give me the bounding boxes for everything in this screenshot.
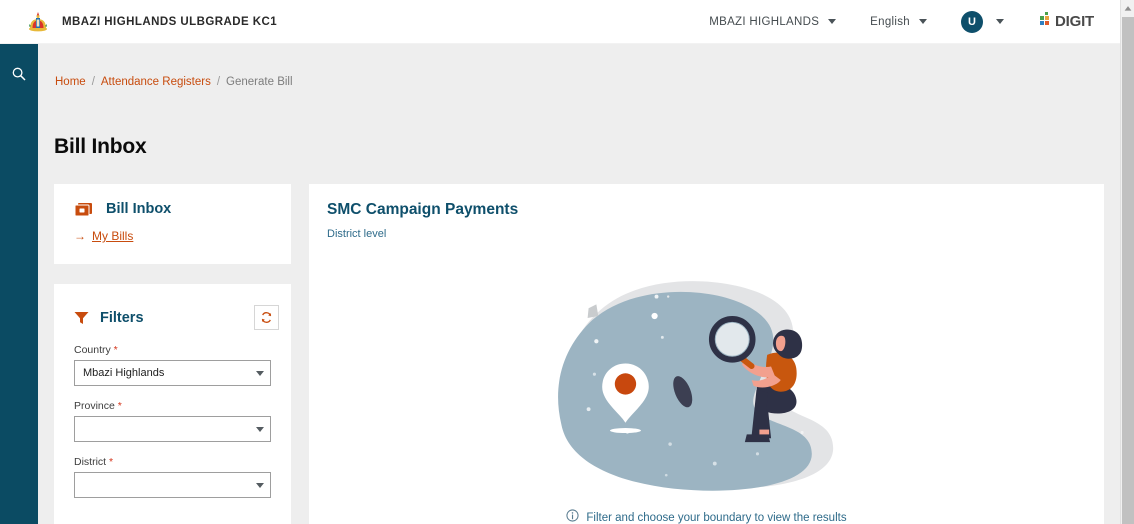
brand-title: MBAZI HIGHLANDS ULBGRADE KC1 bbox=[62, 16, 277, 28]
avatar: U bbox=[961, 11, 983, 33]
filters-card: Filters Country * Mbazi Highlands bbox=[54, 284, 291, 524]
filters-title: Filters bbox=[100, 310, 144, 326]
chevron-down-icon bbox=[256, 483, 264, 488]
required-asterisk: * bbox=[115, 400, 122, 412]
filter-funnel-icon bbox=[74, 311, 89, 325]
breadcrumb-item-attendance-registers[interactable]: Attendance Registers bbox=[101, 76, 211, 88]
app-root: MBAZI HIGHLANDS ULBGRADE KC1 MBAZI HIGHL… bbox=[0, 0, 1134, 524]
breadcrumb: Home / Attendance Registers / Generate B… bbox=[55, 76, 293, 88]
empty-state-hint: Filter and choose your boundary to view … bbox=[309, 509, 1104, 524]
bill-inbox-header: Bill Inbox bbox=[54, 184, 291, 217]
payments-cards-icon bbox=[74, 201, 94, 217]
required-asterisk: * bbox=[111, 344, 118, 356]
filter-label-province-text: Province bbox=[74, 400, 115, 412]
country-select[interactable]: Mbazi Highlands bbox=[74, 360, 271, 386]
scroll-up-arrow-icon[interactable] bbox=[1121, 0, 1134, 16]
arrow-right-icon: → bbox=[74, 230, 86, 242]
filters-header: Filters bbox=[54, 284, 291, 330]
language-selector-label: English bbox=[870, 16, 910, 28]
digit-logo-text: DIGIT bbox=[1055, 13, 1094, 30]
country-select-value: Mbazi Highlands bbox=[83, 367, 164, 379]
search-icon[interactable] bbox=[11, 66, 27, 82]
page-title: Bill Inbox bbox=[54, 135, 147, 159]
language-selector[interactable]: English bbox=[870, 16, 927, 28]
tenant-selector-label: MBAZI HIGHLANDS bbox=[709, 16, 819, 28]
top-header-actions: MBAZI HIGHLANDS English U DIGIT bbox=[675, 11, 1120, 33]
page-body: Home / Attendance Registers / Generate B… bbox=[38, 44, 1120, 524]
chevron-down-icon bbox=[919, 19, 927, 24]
refresh-filters-button[interactable] bbox=[254, 305, 279, 330]
chevron-down-icon bbox=[996, 19, 1004, 24]
filter-label-district-text: District bbox=[74, 456, 106, 468]
filter-label-district: District * bbox=[74, 456, 271, 468]
filter-label-province: Province * bbox=[74, 400, 271, 412]
info-icon bbox=[566, 509, 579, 524]
chevron-down-icon bbox=[256, 371, 264, 376]
main-panel: SMC Campaign Payments District level bbox=[309, 184, 1104, 524]
filter-label-country-text: Country bbox=[74, 344, 111, 356]
bill-inbox-title: Bill Inbox bbox=[106, 201, 171, 217]
filter-field-district: District * bbox=[54, 456, 291, 498]
province-select[interactable] bbox=[74, 416, 271, 442]
tenant-selector[interactable]: MBAZI HIGHLANDS bbox=[709, 16, 836, 28]
profile-menu[interactable]: U bbox=[961, 11, 1004, 33]
required-asterisk: * bbox=[106, 456, 113, 468]
breadcrumb-item-home[interactable]: Home bbox=[55, 76, 86, 88]
filter-field-country: Country * Mbazi Highlands bbox=[54, 344, 291, 386]
my-bills-link-label: My Bills bbox=[92, 229, 133, 243]
coat-of-arms-emblem-icon bbox=[26, 10, 50, 34]
top-header: MBAZI HIGHLANDS ULBGRADE KC1 MBAZI HIGHL… bbox=[0, 0, 1120, 44]
filter-field-province: Province * bbox=[54, 400, 291, 442]
empty-state-hint-text: Filter and choose your boundary to view … bbox=[586, 512, 846, 524]
district-select[interactable] bbox=[74, 472, 271, 498]
vertical-scrollbar[interactable] bbox=[1120, 0, 1134, 524]
digit-pixel-mark-icon bbox=[1040, 16, 1052, 28]
main-panel-title: SMC Campaign Payments bbox=[309, 184, 1104, 219]
left-nav-rail bbox=[0, 44, 38, 524]
breadcrumb-item-generate-bill: Generate Bill bbox=[226, 76, 292, 88]
main-panel-subtitle: District level bbox=[309, 219, 1104, 240]
search-map-illustration-icon bbox=[309, 262, 1104, 502]
breadcrumb-separator: / bbox=[217, 76, 220, 88]
digit-logo: DIGIT bbox=[1040, 13, 1094, 30]
bill-inbox-card: Bill Inbox → My Bills bbox=[54, 184, 291, 264]
scrollbar-thumb[interactable] bbox=[1122, 17, 1134, 524]
chevron-down-icon bbox=[828, 19, 836, 24]
my-bills-link[interactable]: → My Bills bbox=[54, 217, 291, 243]
filter-label-country: Country * bbox=[74, 344, 271, 356]
breadcrumb-separator: / bbox=[92, 76, 95, 88]
chevron-down-icon bbox=[256, 427, 264, 432]
